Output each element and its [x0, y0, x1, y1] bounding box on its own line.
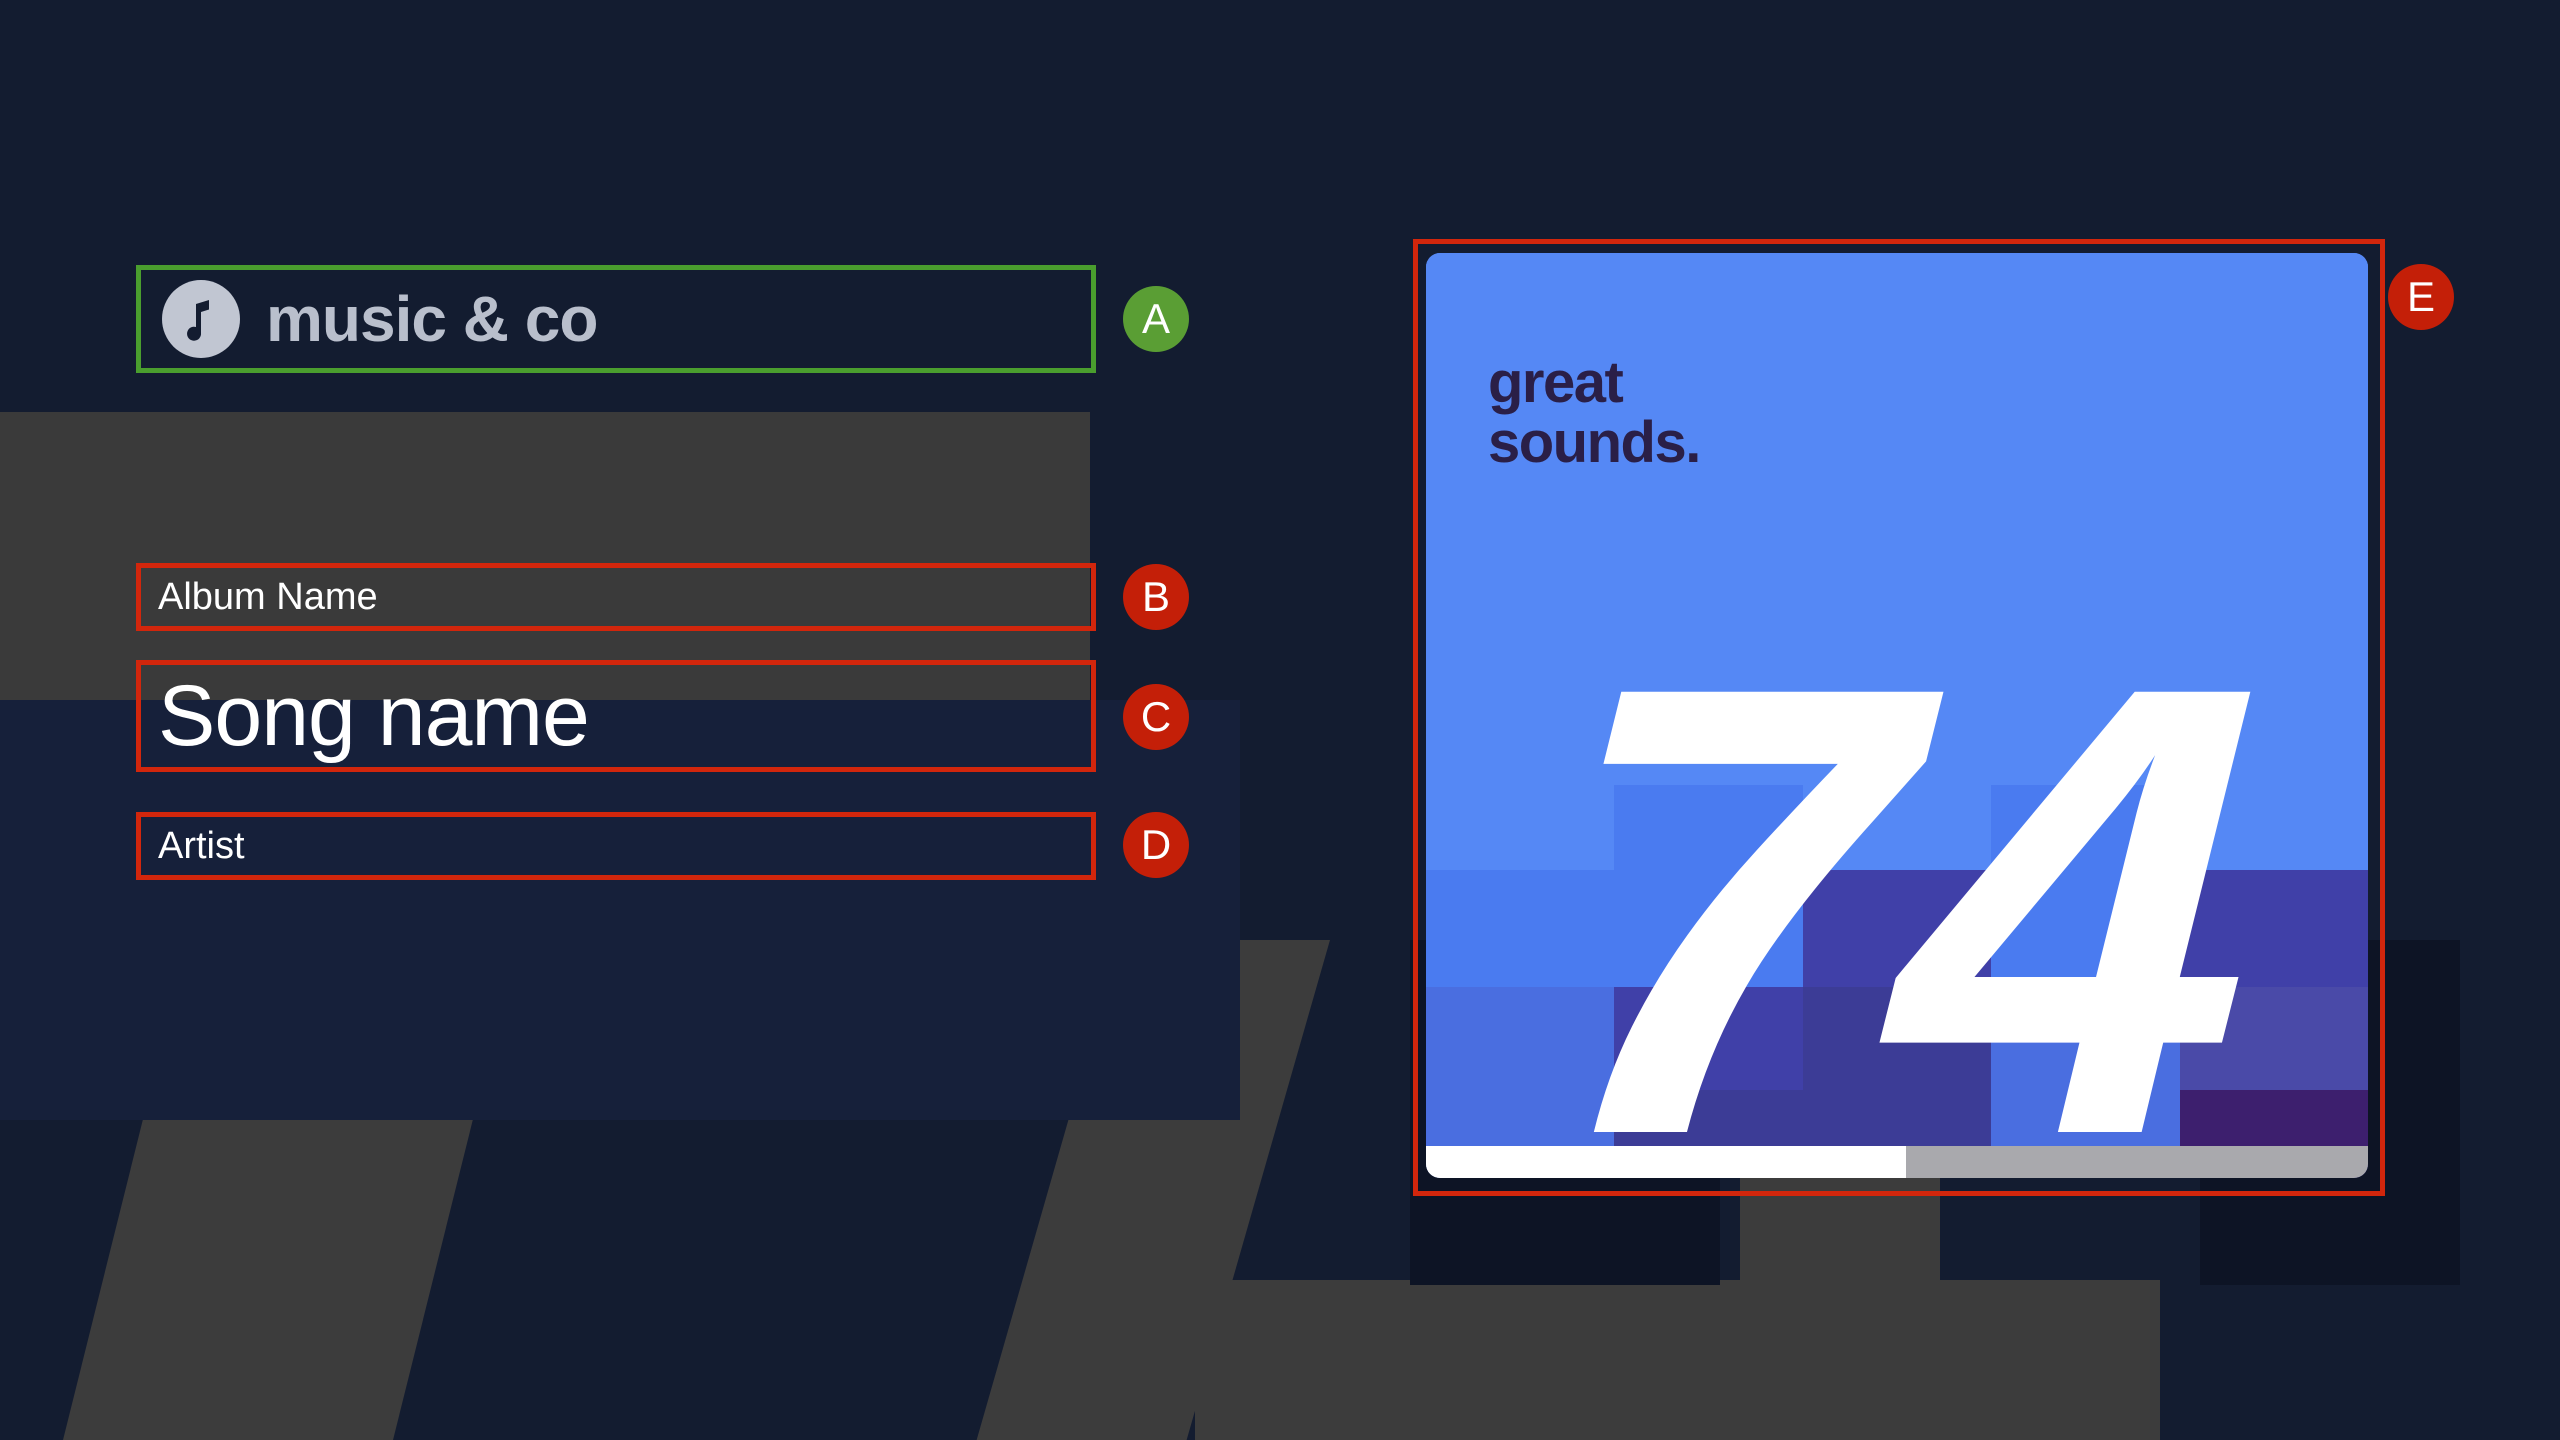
brand-name: music & co	[266, 287, 597, 351]
song-name-field[interactable]: Song name	[136, 660, 1096, 772]
song-name-label: Song name	[158, 673, 589, 759]
playback-progress-bar[interactable]	[1426, 1146, 2368, 1178]
album-art-headline: great sounds.	[1488, 353, 1700, 474]
annotation-badge-e: E	[2388, 264, 2454, 330]
watermark-four-crossbar	[1195, 1280, 2160, 1440]
music-note-icon	[162, 280, 240, 358]
annotation-badge-c: C	[1123, 684, 1189, 750]
annotation-badge-d: D	[1123, 812, 1189, 878]
artist-label: Artist	[158, 827, 245, 865]
album-name-field[interactable]: Album Name	[136, 563, 1096, 631]
album-name-label: Album Name	[158, 578, 378, 616]
album-art-card[interactable]: great sounds. 74	[1426, 253, 2368, 1178]
artist-field[interactable]: Artist	[136, 812, 1096, 880]
annotation-badge-a: A	[1123, 286, 1189, 352]
album-art-number: 74	[1426, 661, 2368, 1160]
brand-logo[interactable]: music & co	[136, 265, 1096, 373]
annotation-badge-b: B	[1123, 564, 1189, 630]
app-screen: music & co Album Name Song name Artist g…	[0, 0, 2560, 1440]
playback-progress-fill	[1426, 1146, 1906, 1178]
